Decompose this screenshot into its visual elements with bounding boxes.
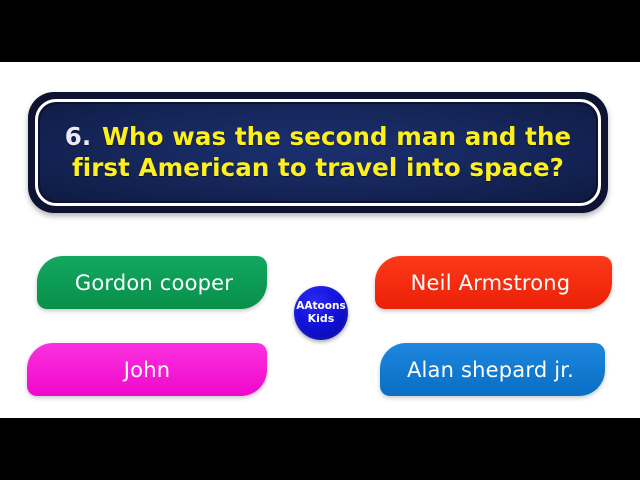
answer-option-c[interactable]: John <box>27 343 267 396</box>
question-body: Who was the second man and the first Ame… <box>72 122 571 181</box>
answer-option-a[interactable]: Gordon cooper <box>37 256 267 309</box>
question-text: 6. Who was the second man and the first … <box>40 122 596 183</box>
answer-option-c-label: John <box>27 358 267 382</box>
letterbox-bar-bottom <box>0 418 640 480</box>
aatoons-kids-logo: AAtoons Kids <box>294 286 348 340</box>
answer-option-a-label: Gordon cooper <box>37 271 267 295</box>
answer-option-d-label: Alan shepard jr. <box>380 358 605 382</box>
answer-option-b-label: Neil Armstrong <box>375 271 612 295</box>
slide-stage: 6. Who was the second man and the first … <box>0 0 640 480</box>
logo-line-two: Kids <box>308 313 335 325</box>
question-panel-inner: 6. Who was the second man and the first … <box>40 104 596 201</box>
question-panel: 6. Who was the second man and the first … <box>28 92 608 213</box>
question-number: 6. <box>65 122 92 151</box>
letterbox-bar-top <box>0 0 640 62</box>
quiz-slide: 6. Who was the second man and the first … <box>0 62 640 418</box>
answer-option-d[interactable]: Alan shepard jr. <box>380 343 605 396</box>
question-panel-ring: 6. Who was the second man and the first … <box>35 99 601 206</box>
answer-option-b[interactable]: Neil Armstrong <box>375 256 612 309</box>
